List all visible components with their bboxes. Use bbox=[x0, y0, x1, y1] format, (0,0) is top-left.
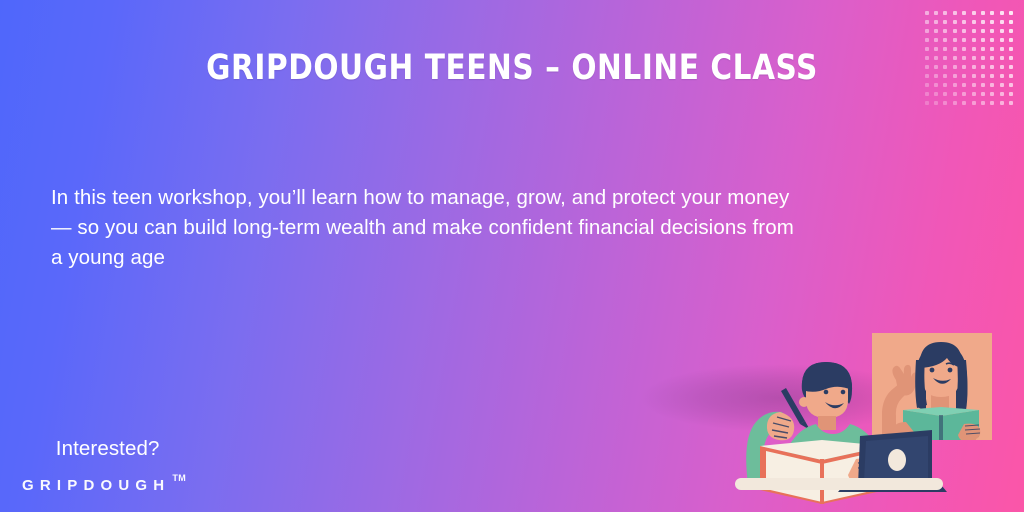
dot-pattern-cell bbox=[953, 20, 957, 24]
student-eye-right bbox=[841, 390, 846, 395]
dot-pattern-cell bbox=[1009, 38, 1013, 42]
dot-pattern-cell bbox=[953, 101, 957, 105]
trademark-symbol: TM bbox=[172, 473, 186, 483]
dot-pattern-cell bbox=[953, 38, 957, 42]
dot-pattern-cell bbox=[1009, 56, 1013, 60]
dot-pattern-cell bbox=[1000, 83, 1004, 87]
dot-pattern-cell bbox=[943, 38, 947, 42]
dot-pattern-cell bbox=[972, 11, 976, 15]
dot-pattern-cell bbox=[981, 29, 985, 33]
dot-pattern-cell bbox=[943, 11, 947, 15]
dot-pattern-cell bbox=[1009, 20, 1013, 24]
dot-pattern-cell bbox=[972, 38, 976, 42]
dot-pattern-cell bbox=[925, 11, 929, 15]
interested-label: Interested? bbox=[50, 434, 481, 463]
dot-pattern-cell bbox=[1000, 56, 1004, 60]
dot-pattern-cell bbox=[990, 101, 994, 105]
dot-pattern-cell bbox=[1000, 101, 1004, 105]
dot-pattern-cell bbox=[925, 101, 929, 105]
dot-pattern-cell bbox=[934, 20, 938, 24]
dot-pattern-cell bbox=[943, 92, 947, 96]
dot-pattern-cell bbox=[943, 29, 947, 33]
dot-pattern-cell bbox=[1000, 74, 1004, 78]
dot-pattern-cell bbox=[962, 11, 966, 15]
dot-pattern-cell bbox=[990, 29, 994, 33]
dot-pattern-cell bbox=[972, 101, 976, 105]
page-title: GRIPDOUGH TEENS – ONLINE CLASS bbox=[31, 48, 994, 88]
promo-banner: GRIPDOUGH TEENS – ONLINE CLASS In this t… bbox=[0, 0, 1024, 512]
dot-pattern-cell bbox=[1009, 65, 1013, 69]
dot-pattern-cell bbox=[962, 92, 966, 96]
dot-pattern-cell bbox=[1009, 29, 1013, 33]
dot-pattern-cell bbox=[1000, 38, 1004, 42]
brand-logo: GRIPDOUGH TM bbox=[22, 477, 186, 494]
dot-pattern-cell bbox=[934, 29, 938, 33]
desk-surface bbox=[735, 478, 943, 490]
dot-pattern-cell bbox=[981, 11, 985, 15]
dot-pattern-cell bbox=[953, 29, 957, 33]
dot-pattern-cell bbox=[934, 11, 938, 15]
dot-pattern-cell bbox=[925, 20, 929, 24]
dot-pattern-cell bbox=[1009, 101, 1013, 105]
student-eye-left bbox=[824, 390, 829, 395]
teacher-hair-right bbox=[956, 360, 968, 410]
dot-pattern-cell bbox=[1009, 92, 1013, 96]
logo-wordmark: GRIPDOUGH bbox=[22, 477, 170, 494]
dot-pattern-cell bbox=[1000, 65, 1004, 69]
laptop-logo bbox=[888, 449, 906, 471]
dot-pattern-cell bbox=[934, 101, 938, 105]
dot-pattern-cell bbox=[981, 101, 985, 105]
dot-pattern-cell bbox=[1009, 74, 1013, 78]
dot-pattern-cell bbox=[990, 20, 994, 24]
dot-pattern-cell bbox=[943, 20, 947, 24]
dot-pattern-cell bbox=[962, 101, 966, 105]
dot-pattern-cell bbox=[990, 11, 994, 15]
dot-pattern-cell bbox=[962, 20, 966, 24]
dot-pattern-cell bbox=[953, 11, 957, 15]
dot-pattern-cell bbox=[934, 92, 938, 96]
student-neck bbox=[818, 416, 836, 430]
dot-pattern-cell bbox=[925, 38, 929, 42]
dot-pattern-cell bbox=[981, 92, 985, 96]
dot-pattern-cell bbox=[925, 29, 929, 33]
dot-pattern-cell bbox=[934, 38, 938, 42]
teacher-eye-left bbox=[930, 368, 935, 373]
dot-pattern-cell bbox=[981, 20, 985, 24]
dot-pattern-cell bbox=[925, 92, 929, 96]
dot-pattern-cell bbox=[972, 20, 976, 24]
dot-pattern-cell bbox=[1009, 47, 1013, 51]
dot-pattern-cell bbox=[972, 29, 976, 33]
teacher-eye-right bbox=[948, 368, 953, 373]
online-class-illustration bbox=[620, 320, 1024, 512]
dot-pattern-cell bbox=[1000, 47, 1004, 51]
dot-pattern-cell bbox=[990, 38, 994, 42]
dot-pattern-cell bbox=[1009, 83, 1013, 87]
dot-pattern-cell bbox=[1000, 20, 1004, 24]
dot-pattern-cell bbox=[990, 92, 994, 96]
body-description-text: In this teen workshop, you’ll learn how … bbox=[51, 183, 811, 273]
dot-pattern-cell bbox=[1000, 11, 1004, 15]
dot-pattern-cell bbox=[943, 101, 947, 105]
dot-pattern-cell bbox=[1009, 11, 1013, 15]
dot-pattern-cell bbox=[962, 38, 966, 42]
dot-pattern-cell bbox=[1000, 29, 1004, 33]
video-call-panel bbox=[872, 333, 992, 444]
dot-pattern-cell bbox=[962, 29, 966, 33]
dot-pattern-cell bbox=[972, 92, 976, 96]
dot-pattern-cell bbox=[1000, 92, 1004, 96]
dot-pattern-cell bbox=[981, 38, 985, 42]
dot-pattern-cell bbox=[953, 92, 957, 96]
